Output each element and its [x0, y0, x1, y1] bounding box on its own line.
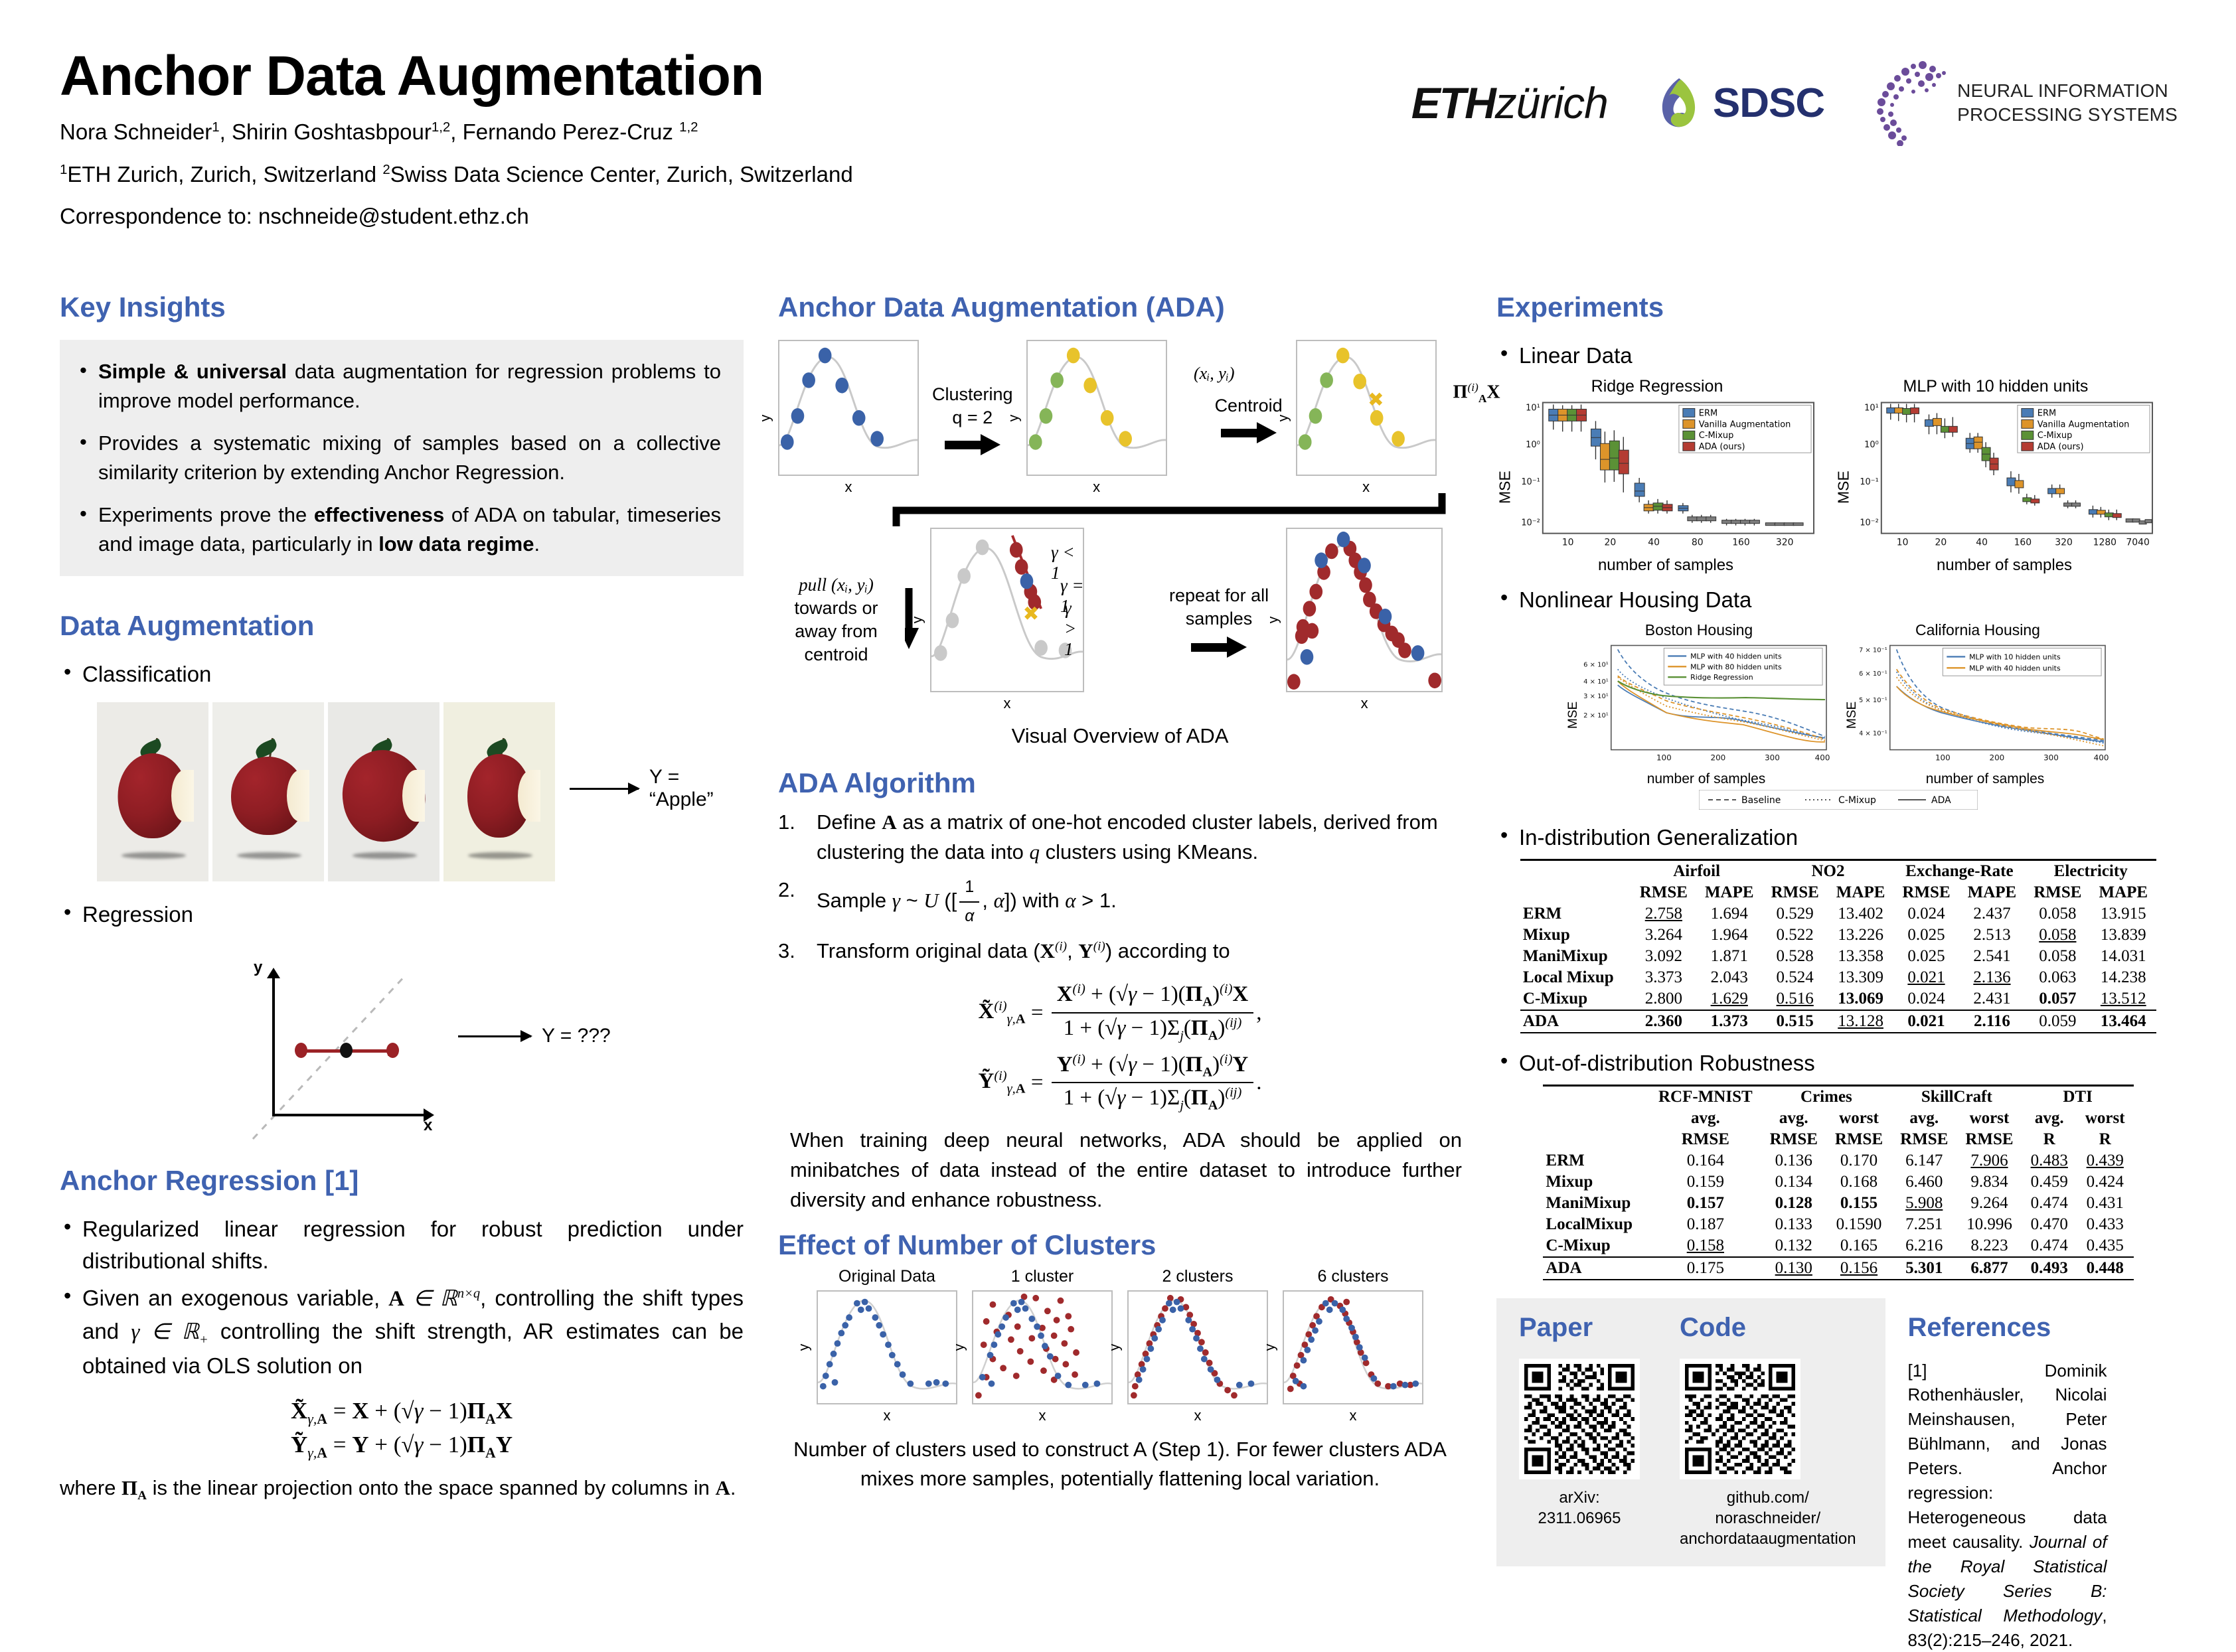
- col-subheader-bot: RMSE: [1761, 1129, 1826, 1150]
- svg-text:MLP with 80 hidden units: MLP with 80 hidden units: [1690, 662, 1782, 671]
- table-cell: 0.170: [1826, 1150, 1891, 1171]
- y-axis-label: y: [1265, 617, 1281, 624]
- eth-logo-bold: ETH: [1411, 78, 1495, 128]
- pull-label-line1: pull (xᵢ, yᵢ): [778, 573, 894, 597]
- y-axis-label: MSE: [1845, 642, 1860, 787]
- table-cell: 0.156: [1826, 1257, 1891, 1280]
- list-item: Experiments prove the effectiveness of A…: [74, 500, 721, 559]
- table-cell: 0.057: [2025, 988, 2090, 1010]
- svg-text:✖: ✖: [1368, 388, 1384, 411]
- cluster-panel-2: 2 clusters: [1127, 1267, 1268, 1424]
- poster-header: Anchor Data Augmentation Nora Schneider1…: [60, 46, 2178, 265]
- repeat-label-line1: repeat for all: [1169, 584, 1269, 607]
- col-group-no2: NO2: [1763, 860, 1894, 882]
- data-aug-list-2: Regression: [60, 899, 744, 931]
- arrow-right-icon: [1191, 638, 1247, 656]
- table-row-label: ADA: [1543, 1257, 1650, 1280]
- reference-marker: [1]: [1908, 1361, 1927, 1381]
- table-cell: 2.043: [1696, 967, 1763, 988]
- chart-title: Ridge Regression: [1496, 377, 1818, 396]
- legend-cmixup: C-Mixup: [1838, 795, 1876, 806]
- clustering-label: Clustering q = 2: [932, 383, 1013, 429]
- table-cell: 0.159: [1650, 1171, 1761, 1193]
- chart-boston-housing: Boston Housing MSE 6 × 10¹4 × 10¹3 × 10¹…: [1566, 621, 1832, 787]
- arrow-right-icon: [570, 788, 639, 790]
- chart-mlp-10: MLP with 10 hidden units MSE 10¹10⁰10⁻¹1…: [1835, 377, 2156, 575]
- section-heading-ada-algorithm: ADA Algorithm: [778, 768, 1462, 798]
- neurips-line-2: PROCESSING SYSTEMS: [1957, 103, 2178, 127]
- table-cell: 14.031: [2090, 946, 2156, 967]
- legend-ada: ADA: [1931, 795, 1951, 806]
- svg-text:200: 200: [1711, 753, 1726, 762]
- table-row-label: ERM: [1520, 903, 1631, 925]
- neurips-logo-text: NEURAL INFORMATION PROCESSING SYSTEMS: [1957, 79, 2178, 127]
- classification-example: Y = “Apple”: [60, 696, 744, 881]
- neurips-dots-icon: [1871, 60, 1951, 146]
- y-axis-label: MSE: [1835, 400, 1852, 575]
- x-axis-label: x: [424, 1116, 432, 1135]
- neurips-logo: NEURAL INFORMATION PROCESSING SYSTEMS: [1871, 60, 2178, 146]
- y-axis-label: y: [1006, 414, 1022, 421]
- svg-text:200: 200: [1990, 753, 2005, 762]
- references-heading: References: [1908, 1313, 2107, 1343]
- cluster-panel-6: 6 clusters: [1283, 1267, 1423, 1424]
- svg-text:10⁰: 10⁰: [1526, 440, 1540, 450]
- links-panel: Paper: [1496, 1298, 1885, 1567]
- table-cell: 9.834: [1956, 1171, 2022, 1193]
- y-axis-label: y: [1262, 1344, 1278, 1351]
- table-cell: 13.915: [2090, 903, 2156, 925]
- table-row-label: ManiMixup: [1520, 946, 1631, 967]
- table-row-label: ManiMixup: [1543, 1193, 1650, 1214]
- svg-text:7 × 10⁻¹: 7 × 10⁻¹: [1860, 646, 1887, 654]
- table-cell: 1.871: [1696, 946, 1763, 967]
- table-cell: 0.435: [2077, 1235, 2134, 1257]
- chart-plot-area: 10¹10⁰10⁻¹10⁻²: [1514, 400, 1818, 554]
- qr-icon: [1685, 1364, 1795, 1474]
- table-cell: 0.483: [2022, 1150, 2077, 1171]
- table-cell: 0.515: [1763, 1010, 1828, 1033]
- legend-baseline: Baseline: [1741, 795, 1781, 806]
- table-cell: 2.513: [1959, 925, 2026, 946]
- col-header: RMSE: [1893, 882, 1958, 903]
- x-axis-label: x: [778, 479, 919, 496]
- col-subheader-top: worst: [1826, 1108, 1891, 1129]
- x-axis-label: x: [817, 1407, 957, 1424]
- linestyle-legend-svg: Baseline C-Mixup ADA: [1699, 790, 1978, 810]
- table-row-label: Mixup: [1520, 925, 1631, 946]
- svg-text:10⁻²: 10⁻²: [1860, 518, 1878, 528]
- table-row-label: LocalMixup: [1543, 1214, 1650, 1235]
- table-row-label: ERM: [1543, 1150, 1650, 1171]
- table-cell: 13.512: [2090, 988, 2156, 1010]
- col-subheader-bot: R: [2077, 1129, 2134, 1150]
- list-item-linear-data: Linear Data: [1496, 340, 2180, 372]
- table-cell: 0.058: [2025, 903, 2090, 925]
- list-item-classification: Classification: [60, 658, 744, 690]
- ada-panel-clustered: y x (xᵢ, yᵢ): [1026, 340, 1167, 496]
- table-cell: 0.474: [2022, 1193, 2077, 1214]
- table-cell: 0.133: [1761, 1214, 1826, 1235]
- table-cell: 0.158: [1650, 1235, 1761, 1257]
- table-cell: 0.524: [1763, 967, 1828, 988]
- x-axis-label: x: [1286, 695, 1443, 712]
- linestyle-legend: Baseline C-Mixup ADA: [1496, 790, 2180, 810]
- x-axis-label: number of samples: [1860, 771, 2111, 787]
- legend-erm: ERM: [1699, 408, 1717, 418]
- experiments-list-4: Out-of-distribution Robustness: [1496, 1047, 2180, 1079]
- logo-row: ETHzürich SDSC: [1411, 60, 2178, 146]
- svg-text:400: 400: [1815, 753, 1830, 762]
- legend-ada: ADA (ours): [1699, 442, 1745, 452]
- table-cell: 8.223: [1956, 1235, 2022, 1257]
- reference-entry-1: [1] Dominik Rothenhäusler, Nicolai Meins…: [1908, 1359, 2107, 1652]
- ada-flow-row-1: y x Clustering q = 2: [778, 340, 1462, 496]
- svg-text:100: 100: [1656, 753, 1672, 762]
- y-axis-label: y: [254, 958, 262, 977]
- table-cell: 0.021: [1893, 1010, 1958, 1033]
- table-cell: 0.021: [1893, 967, 1958, 988]
- col-header: RMSE: [1763, 882, 1828, 903]
- col-group-crimes: Crimes: [1761, 1085, 1891, 1108]
- section-heading-clusters: Effect of Number of Clusters: [778, 1230, 1462, 1260]
- algorithm-step-3: Transform original data (X(i), Y(i)) acc…: [778, 937, 1462, 966]
- table-cell: 2.800: [1631, 988, 1696, 1010]
- sdsc-logo-text: SDSC: [1713, 80, 1824, 127]
- svg-text:10⁻¹: 10⁻¹: [1521, 477, 1540, 487]
- correspondence-line: Correspondence to: nschneide@student.eth…: [60, 200, 2178, 233]
- svg-text:C-Mixup: C-Mixup: [2037, 431, 2073, 441]
- table-cell: 0.433: [2077, 1214, 2134, 1235]
- paper-heading: Paper: [1519, 1313, 1640, 1343]
- table-cell: 2.360: [1631, 1010, 1696, 1033]
- table-cell: 5.908: [1891, 1193, 1956, 1214]
- table-cell: 0.474: [2022, 1235, 2077, 1257]
- arrow-right-icon: [1221, 424, 1277, 441]
- col-subheader-bot: RMSE: [1650, 1129, 1761, 1150]
- svg-text:3 × 10¹: 3 × 10¹: [1583, 693, 1609, 700]
- repeat-label: repeat for all samples: [1169, 584, 1269, 631]
- chart-title: Boston Housing: [1566, 621, 1832, 639]
- table-row: Mixup3.2641.9640.52213.2260.0252.5130.05…: [1520, 925, 2156, 946]
- key-insights-panel: Simple & universal data augmentation for…: [60, 340, 744, 576]
- paper-caption: arXiv: 2311.06965: [1519, 1487, 1640, 1529]
- col-group-exchange: Exchange-Rate: [1893, 860, 2025, 882]
- table-cell: 0.130: [1761, 1257, 1826, 1280]
- regression-label-row: Y = ???: [458, 1025, 611, 1047]
- y-axis-label: y: [796, 1344, 812, 1351]
- panel-title: 1 cluster: [972, 1267, 1113, 1286]
- gamma-greater-label: γ > 1: [1064, 598, 1084, 660]
- code-link-cell[interactable]: Code: [1680, 1313, 1856, 1550]
- y-axis-label: y: [1107, 1344, 1123, 1351]
- clustering-label-line1: Clustering: [932, 383, 1013, 406]
- svg-text:160: 160: [2014, 538, 2032, 548]
- col-subheader-top: avg.: [1761, 1108, 1826, 1129]
- chart-california-housing: California Housing MSE 7 × 10⁻¹6 × 10⁻¹5…: [1845, 621, 2111, 787]
- ada-panel-pull: ✖ y x γ < 1 γ = 1 γ > 1: [930, 528, 1084, 712]
- table-cell: 6.216: [1891, 1235, 1956, 1257]
- cluster-panel-original: Original Data: [817, 1267, 957, 1424]
- section-heading-anchor-regression: Anchor Regression [1]: [60, 1165, 744, 1196]
- list-item-in-distribution: In-distribution Generalization: [1496, 822, 2180, 854]
- table-body: ERM2.7581.6940.52913.4020.0242.4370.0581…: [1520, 903, 2156, 1034]
- flow-connector: [778, 493, 1462, 528]
- svg-text:40: 40: [1976, 538, 1988, 548]
- col-subheader-top: avg.: [1650, 1108, 1761, 1129]
- col-subheader-top: avg.: [1891, 1108, 1956, 1129]
- housing-charts: Boston Housing MSE 6 × 10¹4 × 10¹3 × 10¹…: [1496, 621, 2180, 787]
- equation-y-tilde: Ỹ(i)γ,A = Y(i) + (√γ − 1)(ΠA)(i)Y 1 + (√…: [778, 1052, 1462, 1114]
- column-left: Key Insights Simple & universal data aug…: [60, 292, 744, 1652]
- anchor-regression-list: Regularized linear regression for robust…: [60, 1213, 744, 1382]
- table-cell: 13.069: [1828, 988, 1894, 1010]
- apple-image: [212, 702, 324, 881]
- svg-text:300: 300: [1765, 753, 1780, 762]
- code-caption-line1: github.com/: [1680, 1487, 1856, 1508]
- svg-text:10⁻²: 10⁻²: [1521, 518, 1540, 528]
- sdsc-mark-icon: [1654, 76, 1704, 129]
- ada-overview-caption: Visual Overview of ADA: [778, 721, 1462, 750]
- qr-icon: [1524, 1364, 1635, 1474]
- svg-text:20: 20: [1605, 538, 1617, 548]
- table-cell: 0.165: [1826, 1235, 1891, 1257]
- sample-point-label: (xᵢ, yᵢ): [1194, 364, 1235, 384]
- svg-text:320: 320: [2055, 538, 2073, 548]
- svg-text:Vanilla Augmentation: Vanilla Augmentation: [2037, 419, 2130, 429]
- anchor-regression-equations: X̃γ,A = X + (√γ − 1)ΠAX Ỹγ,A = Y + (√γ −…: [60, 1398, 744, 1462]
- paper-caption-line2: 2311.06965: [1519, 1508, 1640, 1529]
- paper-caption-line1: arXiv:: [1519, 1487, 1640, 1508]
- table-cell: 0.134: [1761, 1171, 1826, 1193]
- table-cell: 0.522: [1763, 925, 1828, 946]
- svg-text:Ridge Regression: Ridge Regression: [1690, 673, 1753, 682]
- svg-text:ERM: ERM: [2037, 408, 2056, 418]
- table-cell: 1.629: [1696, 988, 1763, 1010]
- code-caption-line3: anchordataaugmentation: [1680, 1529, 1856, 1549]
- column-right: Experiments Linear Data Ridge Regression…: [1496, 292, 2180, 1652]
- col-header: RMSE: [1631, 882, 1696, 903]
- chart-plot-area: 7 × 10⁻¹6 × 10⁻¹5 × 10⁻¹4 × 10⁻¹: [1860, 642, 2109, 769]
- table-cell: 13.402: [1828, 903, 1894, 925]
- column-middle: Anchor Data Augmentation (ADA): [778, 292, 1462, 1652]
- table-cell: 2.758: [1631, 903, 1696, 925]
- table-in-distribution: Airfoil NO2 Exchange-Rate Electricity RM…: [1520, 859, 2156, 1034]
- table-row: ManiMixup0.1570.1280.1555.9089.2640.4740…: [1543, 1193, 2133, 1214]
- table-cell: 2.136: [1959, 967, 2026, 988]
- table-cell: 0.155: [1826, 1193, 1891, 1214]
- table-bottom-rule: [1543, 1280, 2133, 1281]
- table-row-label: ADA: [1520, 1010, 1631, 1033]
- pull-label-line3: away from: [778, 620, 894, 643]
- table-row: ERM0.1640.1360.1706.1477.9060.4830.439: [1543, 1150, 2133, 1171]
- table-row: Airfoil NO2 Exchange-Rate Electricity: [1520, 860, 2156, 882]
- svg-text:MLP with 10 hidden units: MLP with 10 hidden units: [1969, 652, 2061, 661]
- svg-text:80: 80: [1692, 538, 1704, 548]
- equation-x-tilde: X̃(i)γ,A = X(i) + (√γ − 1)(ΠA)(i)X 1 + (…: [778, 982, 1462, 1043]
- section-heading-ada: Anchor Data Augmentation (ADA): [778, 292, 1462, 323]
- table-cell: 0.459: [2022, 1171, 2077, 1193]
- table-row: RMSE MAPE RMSE MAPE RMSE MAPE RMSE MAPE: [1520, 882, 2156, 903]
- qr-row: Paper: [1519, 1313, 1856, 1550]
- svg-text:40: 40: [1648, 538, 1660, 548]
- svg-text:20: 20: [1935, 538, 1947, 548]
- table-cell: 0.058: [2025, 925, 2090, 946]
- x-axis-label: x: [1296, 479, 1437, 496]
- algorithm-step-1: Define A as a matrix of one-hot encoded …: [778, 808, 1462, 867]
- bottom-row: Paper: [1496, 1298, 2180, 1652]
- svg-text:6 × 10¹: 6 × 10¹: [1583, 661, 1609, 668]
- pull-label-line4: centroid: [778, 643, 894, 666]
- x-axis-label: number of samples: [1852, 556, 2156, 575]
- table-cell: 0.025: [1893, 946, 1958, 967]
- col-header: MAPE: [1828, 882, 1894, 903]
- pull-label-line2: towards or: [778, 597, 894, 620]
- table-cell: 0.058: [2025, 946, 2090, 967]
- svg-text:10¹: 10¹: [1526, 403, 1540, 413]
- key-insights-list: Simple & universal data augmentation for…: [74, 357, 721, 559]
- table-cell: 2.541: [1959, 946, 2026, 967]
- references-panel: References [1] Dominik Rothenhäusler, Ni…: [1908, 1298, 2107, 1652]
- table-cell: 13.464: [2090, 1010, 2156, 1033]
- svg-text:5 × 10⁻¹: 5 × 10⁻¹: [1860, 697, 1887, 704]
- table-cell: 6.877: [1956, 1257, 2022, 1280]
- table-cell: 0.448: [2077, 1257, 2134, 1280]
- svg-text:10: 10: [1562, 538, 1574, 548]
- cluster-panels: Original Data: [778, 1267, 1462, 1424]
- ada-algorithm-note: When training deep neural networks, ADA …: [778, 1126, 1462, 1215]
- table-cell: 14.238: [2090, 967, 2156, 988]
- code-caption: github.com/ noraschneider/ anchordataaug…: [1680, 1487, 1856, 1550]
- table-cell: 9.264: [1956, 1193, 2022, 1214]
- affiliation-list: 1ETH Zurich, Zurich, Switzerland 2Swiss …: [60, 158, 2178, 191]
- col-group-rcfmnist: RCF-MNIST: [1650, 1085, 1761, 1108]
- table-cell: 0.063: [2025, 967, 2090, 988]
- clusters-caption: Number of clusters used to construct A (…: [778, 1435, 1462, 1493]
- col-subheader-top: avg.: [2022, 1108, 2077, 1129]
- table-row-label: C-Mixup: [1543, 1235, 1650, 1257]
- table-row: avg. avg. worst avg. worst avg. worst: [1543, 1108, 2133, 1129]
- col-subheader-bot: R: [2022, 1129, 2077, 1150]
- svg-text:ADA (ours): ADA (ours): [2037, 442, 2084, 452]
- col-group-electricity: Electricity: [2025, 860, 2156, 882]
- eth-logo-italic: zürich: [1495, 78, 1608, 128]
- ada-step-repeat: repeat for all samples: [1169, 584, 1269, 656]
- table-row: ADA0.1750.1300.1565.3016.8770.4930.448: [1543, 1257, 2133, 1280]
- experiments-list-3: In-distribution Generalization: [1496, 822, 2180, 854]
- neurips-line-1: NEURAL INFORMATION: [1957, 79, 2178, 103]
- svg-text:160: 160: [1732, 538, 1750, 548]
- chart-plot-area: 10¹10⁰10⁻¹10⁻²: [1852, 400, 2156, 554]
- table-cell: 0.157: [1650, 1193, 1761, 1214]
- table-cell: 3.092: [1631, 946, 1696, 967]
- table-cell: 0.024: [1893, 988, 1958, 1010]
- svg-text:4 × 10¹: 4 × 10¹: [1583, 678, 1609, 686]
- sdsc-logo: SDSC: [1654, 76, 1824, 129]
- x-axis: [272, 1114, 425, 1116]
- clustering-label-line2: q = 2: [932, 406, 1013, 429]
- col-subheader-top: worst: [1956, 1108, 2022, 1129]
- table-cell: 2.437: [1959, 903, 2026, 925]
- x-axis-label: number of samples: [1581, 771, 1832, 787]
- arrow-right-icon: [458, 1035, 531, 1037]
- boxplot-charts: Ridge Regression MSE 10¹10⁰10⁻¹10⁻²: [1496, 377, 2180, 575]
- paper-link-cell[interactable]: Paper: [1519, 1313, 1640, 1550]
- table-cell: 0.424: [2077, 1171, 2134, 1193]
- code-qr-code[interactable]: [1680, 1359, 1800, 1479]
- table-cell: 3.373: [1631, 967, 1696, 988]
- centroid-label: Centroid: [1215, 394, 1283, 417]
- col-subheader-bot: RMSE: [1956, 1129, 2022, 1150]
- table-cell: 0.431: [2077, 1193, 2134, 1214]
- svg-text:400: 400: [2094, 753, 2109, 762]
- table-cell: 0.516: [1763, 988, 1828, 1010]
- data-aug-list: Classification: [60, 658, 744, 690]
- legend-cmixup: C-Mixup: [1699, 431, 1734, 441]
- table-cell: 10.996: [1956, 1214, 2022, 1235]
- y-axis-label: MSE: [1496, 400, 1514, 575]
- list-item: Regularized linear regression for robust…: [60, 1213, 744, 1277]
- table-cell: 0.164: [1650, 1150, 1761, 1171]
- table-cell: 0.132: [1761, 1235, 1826, 1257]
- table-cell: 0.1590: [1826, 1214, 1891, 1235]
- table-bottom-rule: [1520, 1033, 2156, 1034]
- table-cell: 2.116: [1959, 1010, 2026, 1033]
- chart-title: MLP with 10 hidden units: [1835, 377, 2156, 396]
- list-item: Simple & universal data augmentation for…: [74, 357, 721, 415]
- col-header: MAPE: [1959, 882, 2026, 903]
- table-ood: RCF-MNIST Crimes SkillCraft DTI avg. avg…: [1543, 1085, 2133, 1281]
- x-axis-label: x: [1283, 1407, 1423, 1424]
- table-corner-cell: [1520, 860, 1631, 882]
- x-axis-label: x: [1026, 479, 1167, 496]
- table-cell: 0.439: [2077, 1150, 2134, 1171]
- table-cell: 0.175: [1650, 1257, 1761, 1280]
- panel-title: 6 clusters: [1283, 1267, 1423, 1286]
- svg-text:10: 10: [1897, 538, 1909, 548]
- col-header: MAPE: [2090, 882, 2156, 903]
- col-subheader-bot: RMSE: [1891, 1129, 1956, 1150]
- table-cell: 5.301: [1891, 1257, 1956, 1280]
- svg-text:MLP with 40 hidden units: MLP with 40 hidden units: [1969, 664, 2061, 672]
- chart-ridge-regression: Ridge Regression MSE 10¹10⁰10⁻¹10⁻²: [1496, 377, 1818, 575]
- list-item: Given an exogenous variable, A ∈ ℝn×q, c…: [60, 1282, 744, 1382]
- col-group-skillcraft: SkillCraft: [1891, 1085, 2022, 1108]
- svg-text:4 × 10⁻¹: 4 × 10⁻¹: [1860, 730, 1887, 737]
- equation-y: Ỹγ,A = Y + (√γ − 1)ΠAY: [60, 1432, 744, 1462]
- table-row: Mixup0.1590.1340.1686.4609.8340.4590.424: [1543, 1171, 2133, 1193]
- table-cell: 6.147: [1891, 1150, 1956, 1171]
- paper-qr-code[interactable]: [1519, 1359, 1640, 1479]
- y-axis-label: y: [758, 414, 773, 421]
- table-row: RCF-MNIST Crimes SkillCraft DTI: [1543, 1085, 2133, 1108]
- svg-text:10⁰: 10⁰: [1864, 440, 1879, 450]
- table-cell: 13.839: [2090, 925, 2156, 946]
- chart-plot-area: 6 × 10¹4 × 10¹3 × 10¹2 × 10¹: [1581, 642, 1830, 769]
- table-row: C-Mixup0.1580.1320.1656.2168.2230.4740.4…: [1543, 1235, 2133, 1257]
- poster-columns: Key Insights Simple & universal data aug…: [60, 292, 2184, 1652]
- ada-flow-row-2: pull (xᵢ, yᵢ) towards or away from centr…: [778, 528, 1462, 712]
- panel-title: Original Data: [817, 1267, 957, 1286]
- svg-text:1280: 1280: [2093, 538, 2116, 548]
- table-cell: 1.964: [1696, 925, 1763, 946]
- experiments-list-2: Nonlinear Housing Data: [1496, 584, 2180, 616]
- regression-mini-plot: y x: [246, 944, 465, 1143]
- apple-label-row: Y = “Apple”: [570, 766, 744, 811]
- table-cell: 1.694: [1696, 903, 1763, 925]
- table-cell: 13.358: [1828, 946, 1894, 967]
- pull-label: pull (xᵢ, yᵢ) towards or away from centr…: [778, 573, 894, 666]
